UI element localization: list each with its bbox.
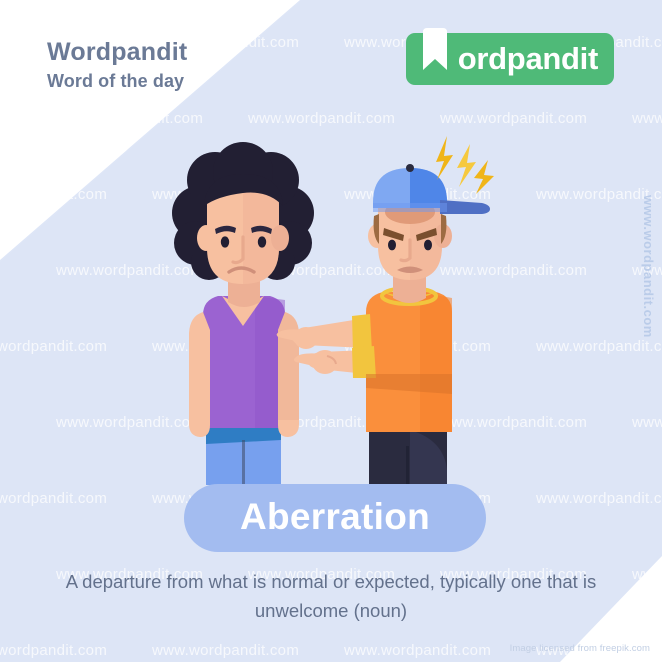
- wordpandit-logo[interactable]: ordpandit: [406, 33, 614, 85]
- definition-text: A departure from what is normal or expec…: [28, 568, 634, 625]
- bookmark-icon: [420, 28, 450, 78]
- lightning-bolt-icon: [436, 136, 494, 194]
- logo-badge: ordpandit: [406, 33, 614, 85]
- sad-boy-figure: [172, 142, 314, 485]
- illustration: [0, 0, 662, 662]
- word-term: Aberration: [240, 498, 430, 538]
- image-credit: Image licensed from freepik.com: [510, 643, 650, 654]
- word-of-the-day-card: www.wordpandit.comwww.wordpandit.comwww.…: [0, 0, 662, 662]
- header: Wordpandit Word of the day: [47, 38, 187, 93]
- word-pill[interactable]: Aberration: [184, 484, 486, 552]
- logo-text: ordpandit: [458, 43, 598, 76]
- header-subtitle: Word of the day: [47, 70, 187, 93]
- angry-boy-figure: [277, 136, 494, 492]
- brand-title: Wordpandit: [47, 38, 187, 67]
